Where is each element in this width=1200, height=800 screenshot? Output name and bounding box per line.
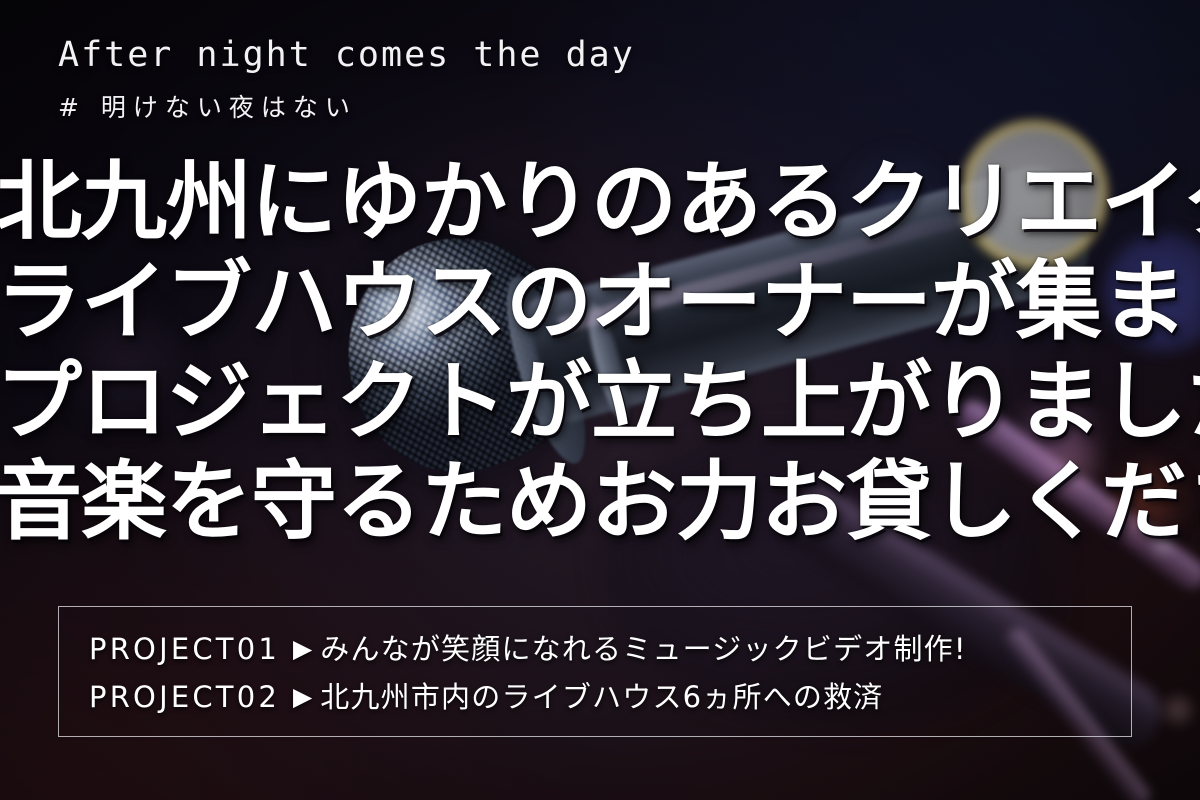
play-triangle-icon: ▶ [293, 637, 312, 662]
headline: 北九州にゆかりのあるクリエイターと ライブハウスのオーナーが集まり、 プロジェク… [0, 152, 1200, 552]
headline-line-1: 北九州にゆかりのあるクリエイターと [0, 152, 1200, 252]
project-01-description: みんなが笑顔になれるミュージックビデオ制作! [320, 635, 966, 664]
eyebrow-japanese-hashtag: # 明けない夜はない [58, 95, 357, 120]
headline-line-3: プロジェクトが立ち上がりました。 [0, 352, 1200, 452]
project-row: PROJECT02 ▶ 北九州市内のライブハウス6ヵ所への救済 [89, 673, 1131, 721]
poster-canvas: After night comes the day # 明けない夜はない 北九州… [0, 0, 1200, 800]
project-02-code: PROJECT02 [89, 683, 280, 712]
eyebrow-english: After night comes the day [58, 38, 635, 73]
project-02-description: 北九州市内のライブハウス6ヵ所への救済 [320, 683, 883, 712]
play-triangle-icon: ▶ [293, 685, 312, 710]
poster-content: After night comes the day # 明けない夜はない 北九州… [0, 0, 1200, 800]
headline-line-2: ライブハウスのオーナーが集まり、 [0, 252, 1200, 352]
project-01-code: PROJECT01 [89, 635, 280, 664]
headline-line-4: 音楽を守るためお力お貸しください! [0, 452, 1200, 552]
project-row: PROJECT01 ▶ みんなが笑顔になれるミュージックビデオ制作! [89, 625, 1131, 673]
project-list-box: PROJECT01 ▶ みんなが笑顔になれるミュージックビデオ制作! PROJE… [58, 606, 1132, 737]
